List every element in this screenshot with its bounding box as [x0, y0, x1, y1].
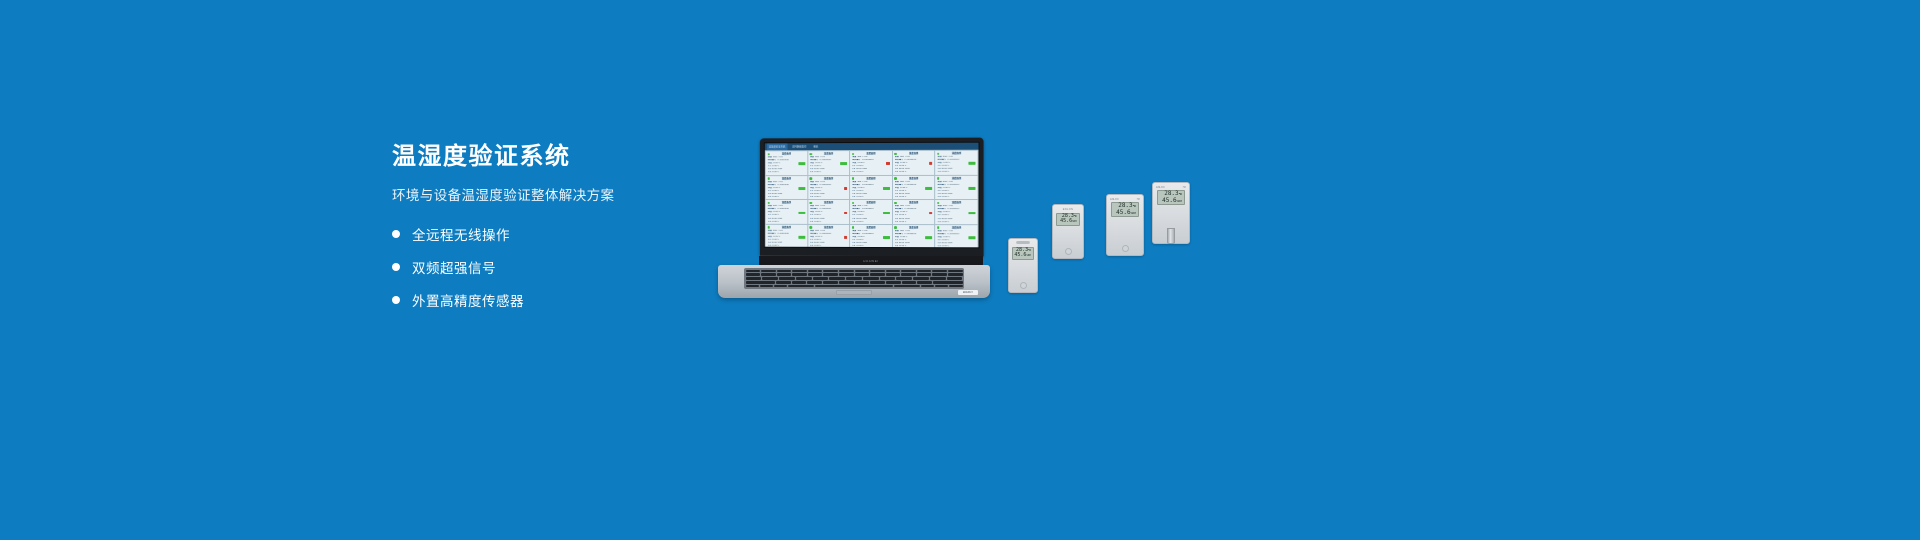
- sensor-card-row-value: 25.00℃: [855, 171, 890, 174]
- status-led-icon: [809, 153, 812, 156]
- sensor-card-row: T-325.00℃: [938, 171, 976, 174]
- sensor-card-rows: 设备验证 TT-01探头编号TC10050010温度25.00℃T-125.00…: [894, 205, 934, 224]
- sensor-card-row-value: 25.00℃: [898, 221, 933, 224]
- sensor-card-row-value: 25.00℃: [771, 196, 805, 199]
- keyboard-key[interactable]: [746, 273, 761, 276]
- sensor-card-rows: 设备验证 TT-01探头编号TC10050010温度25.00℃T-125.00…: [809, 156, 848, 175]
- sensor-card[interactable]: 温度曲线设备验证 TT-01探头编号TC10050010温度25.00℃T-12…: [808, 225, 849, 249]
- device-brand-label: ENLON: [1063, 208, 1073, 211]
- lcd-temperature-unit: ℃: [1028, 249, 1031, 252]
- keyboard-key[interactable]: [917, 281, 932, 284]
- sensor-card-row: T-325.00℃: [768, 196, 805, 199]
- lcd-humidity-unit: %RH: [1026, 254, 1031, 257]
- lcd-temperature-unit: ℃: [1074, 215, 1077, 218]
- sensor-card-row-value: 25.00℃: [898, 196, 933, 199]
- keyboard-key[interactable]: [886, 273, 901, 276]
- sensor-card-row-value: 25.00℃: [813, 172, 847, 175]
- keyboard-key[interactable]: [902, 281, 917, 284]
- keyboard-key[interactable]: [762, 277, 778, 280]
- keyboard-key[interactable]: [901, 270, 916, 273]
- sensor-card[interactable]: 温度曲线设备验证 TT-01探头编号TC10050010温度25.00℃T-12…: [808, 176, 849, 200]
- status-led-icon: [767, 177, 770, 180]
- lcd-humidity-value: 45.6: [1162, 197, 1176, 204]
- keyboard-key[interactable]: [761, 270, 776, 273]
- sensor-card-row-value: 25.00℃: [898, 171, 933, 174]
- device-power-button[interactable]: [1122, 245, 1129, 252]
- device-body: ENLON 28.3℃ 45.6%RH: [1052, 204, 1084, 259]
- keyboard-key[interactable]: [932, 270, 947, 273]
- sensor-card-row-value: 25.00℃: [771, 172, 805, 175]
- keyboard-key[interactable]: [839, 270, 854, 273]
- feature-label: 外置高精度传感器: [412, 290, 524, 310]
- feature-item-2: 双频超强信号: [392, 257, 722, 277]
- sensor-card[interactable]: 温度曲线设备验证 TT-01探头编号TC10050010温度25.00℃T-12…: [936, 225, 978, 249]
- lcd-humidity-value: 45.6: [1060, 218, 1072, 224]
- sensor-card-row-value: 25.00℃: [898, 245, 933, 248]
- app-tab-1[interactable]: 实时数据监控: [790, 143, 808, 150]
- sensor-card[interactable]: 温度曲线设备验证 TT-01探头编号TC10050010温度25.00℃T-12…: [808, 200, 849, 224]
- device-power-button[interactable]: [1065, 248, 1072, 255]
- keyboard-key[interactable]: [921, 285, 934, 288]
- sensor-vent-icon: [1017, 241, 1030, 244]
- keyboard-key[interactable]: [846, 277, 862, 280]
- sensor-card[interactable]: 温度曲线设备验证 TT-01探头编号TC10050010温度25.00℃T-12…: [850, 176, 892, 200]
- keyboard-key[interactable]: [807, 281, 822, 284]
- app-tab-0[interactable]: 温湿度验证系统: [767, 143, 787, 150]
- keyboard-key[interactable]: [913, 277, 929, 280]
- sensor-card-row: T-325.00℃: [810, 245, 847, 248]
- keyboard-key[interactable]: [746, 285, 759, 288]
- bullet-dot-icon: [392, 230, 400, 238]
- keyboard-row: [746, 270, 963, 273]
- keyboard-key[interactable]: [813, 277, 829, 280]
- keyboard-row: [746, 285, 963, 288]
- device-brand-label: ENLON: [1110, 198, 1118, 201]
- sensor-card[interactable]: 温度曲线设备验证 TT-01探头编号TC10050010温度25.00℃T-12…: [893, 225, 935, 249]
- device-label-row: ENLON H3: [1156, 186, 1186, 189]
- sensor-card-rows: 设备验证 TT-01探头编号TC10050010温度25.00℃T-125.00…: [937, 156, 977, 175]
- keyboard-row: [746, 277, 963, 280]
- sensor-card-row: T-325.00℃: [810, 221, 847, 224]
- sensor-card[interactable]: 温度曲线设备验证 TT-01探头编号TC10050010温度25.00℃T-12…: [766, 176, 807, 199]
- keyboard-key[interactable]: [823, 273, 838, 276]
- device-body: ENLON H3 28.3℃ 45.6%RH: [1152, 182, 1190, 244]
- sensor-card-row: T-325.00℃: [895, 221, 933, 224]
- app-tab-2[interactable]: 报表: [811, 143, 820, 150]
- status-led-icon: [809, 226, 812, 229]
- laptop-product-image: 温湿度验证系统 实时数据监控 报表 温度曲线设备验证 TT-01探头编号TC10…: [718, 138, 990, 298]
- sensor-card-rows: 设备验证 TT-01探头编号TC10050010温度25.00℃T-125.00…: [894, 156, 934, 175]
- lcd-temperature-unit: ℃: [1179, 192, 1182, 196]
- page-subtitle: 环境与设备温湿度验证整体解决方案: [392, 186, 722, 206]
- keyboard-key[interactable]: [823, 270, 838, 273]
- status-led-icon: [809, 202, 812, 205]
- lcd-humidity-unit: %RH: [1131, 211, 1136, 215]
- keyboard-key[interactable]: [777, 273, 792, 276]
- sensor-card-row: T-325.00℃: [768, 245, 805, 248]
- device-power-button[interactable]: [1020, 282, 1027, 289]
- lcd-humidity-row: 45.6%RH: [1014, 253, 1031, 258]
- sensor-card-row-value: 25.00℃: [771, 220, 805, 223]
- sensor-card-row: T-325.00℃: [810, 172, 847, 175]
- keyboard-key[interactable]: [839, 281, 854, 284]
- keyboard-key[interactable]: [894, 285, 920, 288]
- status-led-icon: [767, 226, 770, 229]
- keyboard-key[interactable]: [855, 281, 870, 284]
- laptop-sticker: ENERGY: [958, 290, 978, 295]
- sensor-card-rows: 设备验证 TT-01探头编号TC10050010温度25.00℃T-125.00…: [809, 205, 848, 224]
- keyboard-key[interactable]: [933, 281, 962, 284]
- sensor-device-group: ENLON 28.3℃ 45.6%RH ENLON 28.3℃: [1000, 170, 1220, 300]
- sensor-card-row: T-325.00℃: [852, 171, 890, 174]
- keyboard-key[interactable]: [917, 273, 932, 276]
- sensor-card[interactable]: 温度曲线设备验证 TT-01探头编号TC10050010温度25.00℃T-12…: [808, 151, 849, 175]
- keyboard-key[interactable]: [839, 273, 854, 276]
- sensor-card[interactable]: 温度曲线设备验证 TT-01探头编号TC10050010温度25.00℃T-12…: [893, 175, 935, 199]
- device-model-label: H3: [1137, 198, 1140, 201]
- keyboard-key[interactable]: [917, 270, 932, 273]
- sensor-card-row-value: 25.00℃: [941, 196, 976, 199]
- keyboard-key[interactable]: [746, 270, 761, 273]
- keyboard-key[interactable]: [779, 277, 795, 280]
- keyboard-key[interactable]: [774, 285, 787, 288]
- keyboard-key[interactable]: [746, 281, 775, 284]
- sensor-card-row-value: 25.00℃: [941, 221, 976, 224]
- device-wireless-transmitter: ENLON H3 28.3℃ 45.6%RH: [1106, 194, 1144, 300]
- status-led-icon: [894, 226, 897, 229]
- keyboard-key[interactable]: [949, 285, 962, 288]
- sensor-card[interactable]: 温度曲线设备验证 TT-01探头编号TC10050010温度25.00℃T-12…: [936, 151, 978, 175]
- keyboard-key[interactable]: [823, 281, 838, 284]
- device-body: ENLON H3 28.3℃ 45.6%RH: [1106, 194, 1144, 256]
- keyboard-key[interactable]: [792, 270, 807, 273]
- sensor-card-row: T-325.00℃: [852, 196, 890, 199]
- keyboard-key[interactable]: [896, 277, 912, 280]
- keyboard-key[interactable]: [886, 270, 901, 273]
- feature-label: 全远程无线操作: [412, 224, 510, 244]
- keyboard-key[interactable]: [948, 270, 963, 273]
- status-led-icon: [767, 153, 770, 156]
- sensor-card[interactable]: 温度曲线设备验证 TT-01探头编号TC10050010温度25.00℃T-12…: [936, 175, 978, 199]
- sensor-card-row-value: 25.00℃: [941, 171, 976, 174]
- device-lcd-display: 28.3℃ 45.6%RH: [1157, 190, 1185, 205]
- keyboard-key[interactable]: [777, 270, 792, 273]
- keyboard-key[interactable]: [901, 273, 916, 276]
- device-body: ENLON 28.3℃ 45.6%RH: [1008, 238, 1038, 293]
- sensor-card-rows: 设备验证 TT-01探头编号TC10050010温度25.00℃T-125.00…: [937, 180, 977, 199]
- status-led-icon: [894, 202, 897, 205]
- keyboard-key[interactable]: [808, 273, 823, 276]
- sensor-card-rows: 设备验证 TT-01探头编号TC10050010温度25.00℃T-125.00…: [809, 230, 848, 249]
- sensor-card-rows: 设备验证 TT-01探头编号TC10050010温度25.00℃T-125.00…: [851, 156, 891, 175]
- keyboard-key[interactable]: [948, 273, 963, 276]
- sensor-card-rows: 设备验证 TT-01探头编号TC10050010温度25.00℃T-125.00…: [851, 230, 891, 249]
- keyboard-key[interactable]: [932, 273, 947, 276]
- sensor-card[interactable]: 温度曲线设备验证 TT-01探头编号TC10050010温度25.00℃T-12…: [936, 200, 978, 224]
- sensor-card-rows: 设备验证 TT-01探头编号TC10050010温度25.00℃T-125.00…: [767, 181, 806, 199]
- sensor-card-row-value: 25.00℃: [855, 221, 890, 224]
- sensor-card[interactable]: 温度曲线设备验证 TT-01探头编号TC10050010温度25.00℃T-12…: [766, 225, 807, 249]
- status-led-icon: [809, 177, 812, 180]
- sensor-card-row: T-325.00℃: [895, 245, 933, 248]
- sensor-card-rows: 设备验证 TT-01探头编号TC10050010温度25.00℃T-125.00…: [894, 230, 934, 249]
- sensor-card[interactable]: 温度曲线设备验证 TT-01探头编号TC10050010温度25.00℃T-12…: [893, 200, 935, 224]
- status-led-icon: [852, 177, 855, 180]
- keyboard-key[interactable]: [870, 281, 885, 284]
- bullet-dot-icon: [392, 263, 400, 271]
- sensor-card-row: T-325.00℃: [768, 220, 805, 223]
- feature-list: 全远程无线操作 双频超强信号 外置高精度传感器: [392, 224, 722, 310]
- lcd-humidity-unit: %RH: [1072, 220, 1077, 223]
- banner-text-block: 温湿度验证系统 环境与设备温湿度验证整体解决方案 全远程无线操作 双频超强信号 …: [392, 142, 722, 323]
- lcd-humidity-row: 45.6%RH: [1060, 219, 1077, 224]
- lcd-humidity-row: 45.6%RH: [1116, 210, 1136, 216]
- keyboard-key[interactable]: [880, 277, 896, 280]
- sensor-card[interactable]: 温度曲线设备验证 TT-01探头编号TC10050010温度25.00℃T-12…: [766, 151, 807, 175]
- sensor-card-rows: 设备验证 TT-01探头编号TC10050010温度25.00℃T-125.00…: [937, 205, 977, 224]
- laptop-base: ENERGY: [718, 265, 990, 298]
- sensor-card-row-value: 25.00℃: [813, 196, 847, 199]
- device-lcd-display: 28.3℃ 45.6%RH: [1111, 202, 1139, 217]
- sensor-card-rows: 设备验证 TT-01探头编号TC10050010温度25.00℃T-125.00…: [937, 230, 977, 249]
- feature-item-3: 外置高精度传感器: [392, 290, 722, 310]
- sensor-card[interactable]: 温度曲线设备验证 TT-01探头编号TC10050010温度25.00℃T-12…: [850, 225, 892, 249]
- laptop-keyboard[interactable]: [744, 268, 964, 289]
- lcd-humidity-unit: %RH: [1177, 199, 1182, 203]
- keyboard-key[interactable]: [792, 273, 807, 276]
- sensor-card[interactable]: 温度曲线设备验证 TT-01探头编号TC10050010温度25.00℃T-12…: [850, 200, 892, 224]
- feature-label: 双频超强信号: [412, 257, 496, 277]
- sensor-card-rows: 设备验证 TT-01探头编号TC10050010温度25.00℃T-125.00…: [767, 205, 806, 224]
- lcd-humidity-value: 45.6: [1014, 252, 1026, 258]
- keyboard-key[interactable]: [776, 281, 791, 284]
- sensor-card-row: T-325.00℃: [852, 221, 890, 224]
- keyboard-key[interactable]: [935, 285, 948, 288]
- sensor-card-row: T-325.00℃: [895, 196, 933, 199]
- sensor-card-rows: 设备验证 TT-01探头编号TC10050010温度25.00℃T-125.00…: [851, 181, 891, 200]
- keyboard-key[interactable]: [863, 277, 879, 280]
- keyboard-key[interactable]: [761, 273, 776, 276]
- bottom-probe-icon: [1167, 228, 1175, 244]
- keyboard-key[interactable]: [855, 273, 870, 276]
- status-led-icon: [894, 152, 897, 155]
- bullet-dot-icon: [392, 296, 400, 304]
- laptop-trackpad[interactable]: [836, 290, 872, 295]
- keyboard-key[interactable]: [760, 285, 773, 288]
- keyboard-key[interactable]: [829, 277, 845, 280]
- sensor-card-row: T-325.00℃: [810, 196, 847, 199]
- keyboard-key[interactable]: [947, 277, 963, 280]
- sensor-card-row-value: 25.00℃: [813, 245, 847, 248]
- device-wireless-transmitter-dual-band: ENLON H3 28.3℃ 45.6%RH: [1152, 182, 1190, 300]
- lcd-temperature-unit: ℃: [1133, 204, 1136, 208]
- sensor-card[interactable]: 温度曲线设备验证 TT-01探头编号TC10050010温度25.00℃T-12…: [850, 151, 892, 175]
- keyboard-key[interactable]: [815, 285, 893, 288]
- sensor-card-rows: 设备验证 TT-01探头编号TC10050010温度25.00℃T-125.00…: [809, 181, 848, 200]
- sensor-card[interactable]: 温度曲线设备验证 TT-01探头编号TC10050010温度25.00℃T-12…: [893, 151, 935, 175]
- device-lcd-display: 28.3℃ 45.6%RH: [1056, 213, 1079, 226]
- sensor-card-rows: 设备验证 TT-01探头编号TC10050010温度25.00℃T-125.00…: [894, 181, 934, 200]
- sensor-card-rows: 设备验证 TT-01探头编号TC10050010温度25.00℃T-125.00…: [767, 229, 806, 248]
- keyboard-key[interactable]: [870, 273, 885, 276]
- keyboard-key[interactable]: [870, 270, 885, 273]
- device-external-probe-logger: ENLON 28.3℃ 45.6%RH: [1052, 204, 1084, 300]
- keyboard-row: [746, 273, 963, 276]
- sensor-card-row: T-325.00℃: [938, 196, 976, 199]
- device-model-label: H3: [1183, 186, 1186, 189]
- keyboard-key[interactable]: [792, 281, 807, 284]
- sensor-card-row: T-325.00℃: [895, 171, 933, 174]
- keyboard-key[interactable]: [886, 281, 901, 284]
- sensor-card[interactable]: 温度曲线设备验证 TT-01探头编号TC10050010温度25.00℃T-12…: [766, 200, 807, 223]
- sensor-card-grid: 温度曲线设备验证 TT-01探头编号TC10050010温度25.00℃T-12…: [765, 150, 979, 249]
- laptop-brand-label: HUAWEI: [863, 259, 879, 263]
- feature-item-1: 全远程无线操作: [392, 224, 722, 244]
- sensor-card-row: T-325.00℃: [938, 245, 976, 248]
- device-lcd-display: 28.3℃ 45.6%RH: [1012, 247, 1034, 260]
- sensor-card-rows: 设备验证 TT-01探头编号TC10050010温度25.00℃T-125.00…: [851, 205, 891, 224]
- sensor-card-row-value: 25.00℃: [813, 221, 847, 224]
- sensor-card-row: T-325.00℃: [938, 221, 976, 224]
- sensor-card-row: T-325.00℃: [768, 172, 805, 175]
- sensor-card-row-value: 25.00℃: [941, 245, 976, 248]
- sensor-card-row: T-325.00℃: [852, 245, 890, 248]
- laptop-lid: 温湿度验证系统 实时数据监控 报表 温度曲线设备验证 TT-01探头编号TC10…: [760, 138, 984, 257]
- device-label-row: ENLON H3: [1110, 198, 1140, 201]
- device-temperature-humidity-logger: ENLON 28.3℃ 45.6%RH: [1008, 238, 1038, 300]
- lcd-humidity-row: 45.6%RH: [1162, 198, 1182, 204]
- laptop-screen: 温湿度验证系统 实时数据监控 报表 温度曲线设备验证 TT-01探头编号TC10…: [764, 142, 980, 249]
- status-led-icon: [894, 177, 897, 180]
- lcd-humidity-value: 45.6: [1116, 209, 1130, 216]
- sensor-card-row-value: 25.00℃: [855, 196, 890, 199]
- keyboard-key[interactable]: [796, 277, 812, 280]
- keyboard-key[interactable]: [746, 277, 762, 280]
- keyboard-key[interactable]: [930, 277, 946, 280]
- sensor-card-row-value: 25.00℃: [771, 245, 805, 248]
- keyboard-key[interactable]: [855, 270, 870, 273]
- sensor-card-row-value: 25.00℃: [855, 245, 890, 248]
- keyboard-key[interactable]: [788, 285, 814, 288]
- keyboard-key[interactable]: [808, 270, 823, 273]
- device-brand-label: ENLON: [1156, 186, 1164, 189]
- sensor-card-rows: 设备验证 TT-01探头编号TC10050010温度25.00℃T-125.00…: [767, 156, 806, 175]
- keyboard-row: [746, 281, 963, 284]
- page-title: 温湿度验证系统: [392, 142, 722, 172]
